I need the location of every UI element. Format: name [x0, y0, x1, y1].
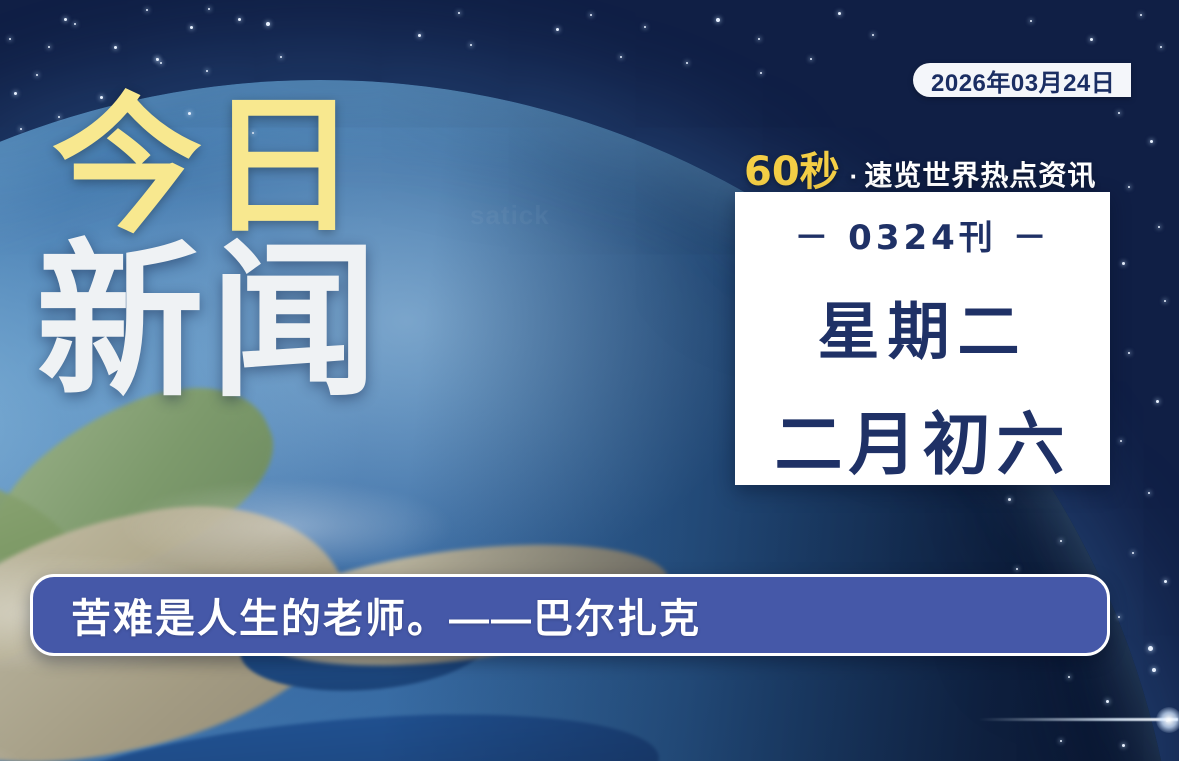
lunar-date: 二月初六 [774, 389, 1070, 488]
issue-number: － 0324刊 － [794, 210, 1050, 259]
page-title: 今日 新闻 [52, 96, 384, 402]
tagline: 60秒 · 速览世界热点资讯 [744, 139, 1096, 197]
date-badge-label: 2026年03月24日 [931, 63, 1115, 98]
quote-bar: 苦难是人生的老师。——巴尔扎克 [30, 574, 1110, 656]
page-title-line-1: 今日 [52, 96, 384, 239]
news-poster: satick 2026年03月24日 60秒 · 速览世界热点资讯 今日 新闻 … [0, 0, 1179, 761]
quote-text: 苦难是人生的老师。——巴尔扎克 [71, 586, 701, 644]
info-card: － 0324刊 － 星期二 二月初六 [735, 192, 1110, 485]
page-title-line-2: 新闻 [36, 243, 384, 403]
watermark-text: satick [470, 200, 550, 231]
date-badge: 2026年03月24日 [913, 63, 1131, 97]
tagline-seconds: 60秒 [744, 139, 840, 197]
tagline-text: 速览世界热点资讯 [864, 154, 1096, 194]
weekday-label: 星期二 [817, 281, 1027, 371]
tagline-separator: · [850, 161, 859, 192]
